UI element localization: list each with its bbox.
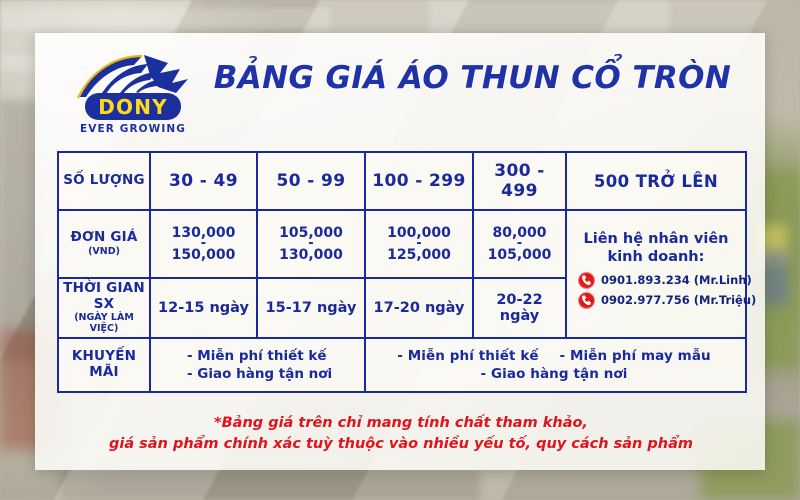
cell-days-4: 20-22 ngày xyxy=(473,278,566,338)
row-label-text: ĐƠN GIÁ xyxy=(70,229,137,245)
bg-decor xyxy=(0,8,330,30)
logo-tagline: EVER GROWING xyxy=(72,123,194,135)
phone-item[interactable]: 0902.977.756 (Mr.Triệu) xyxy=(578,292,738,309)
header: DONY EVER GROWING BẢNG GIÁ ÁO THUN CỔ TR… xyxy=(35,33,765,138)
table-header-row: SỐ LƯỢNG 30 - 49 50 - 99 100 - 299 300 -… xyxy=(58,152,746,210)
cell-days-3: 17-20 ngày xyxy=(365,278,473,338)
page-title: BẢNG GIÁ ÁO THUN CỔ TRÒN xyxy=(200,61,745,95)
promo-right-item-2: - Miễn phí may mẫu xyxy=(559,347,710,365)
disclaimer-line-2: giá sản phẩm chính xác tuỳ thuộc vào nhi… xyxy=(57,434,745,455)
cell-promo-right: - Miễn phí thiết kế - Miễn phí may mẫu -… xyxy=(365,338,746,392)
logo-wordmark: DONY xyxy=(85,93,181,120)
header-cell-range-3: 100 - 299 xyxy=(365,152,473,210)
cell-days-2: 15-17 ngày xyxy=(257,278,365,338)
disclaimer-note: *Bảng giá trên chỉ mang tính chất tham k… xyxy=(57,413,745,455)
contact-heading-line-2: kinh doanh: xyxy=(570,248,742,266)
header-cell-range-2: 50 - 99 xyxy=(257,152,365,210)
promo-right-item-1: - Miễn phí thiết kế xyxy=(397,347,538,365)
row-sublabel-text: (NGÀY LÀM VIỆC) xyxy=(62,313,146,335)
row-label-production-time: THỜI GIAN SX (NGÀY LÀM VIỆC) xyxy=(58,278,150,338)
promo-right-item-3: - Giao hàng tận nơi xyxy=(480,365,627,383)
phone-number-text: 0902.977.756 (Mr.Triệu) xyxy=(601,293,756,307)
phone-number-text: 0901.893.234 (Mr.Linh) xyxy=(601,273,752,287)
header-cell-quantity: SỐ LƯỢNG xyxy=(58,152,150,210)
cell-price-4: 80,000 - 105,000 xyxy=(473,210,566,278)
phone-icon xyxy=(578,272,595,289)
contact-heading-line-1: Liên hệ nhân viên xyxy=(570,230,742,248)
promo-left-line-2: - Giao hàng tận nơi xyxy=(187,365,361,383)
cell-promo-left: - Miễn phí thiết kế - Giao hàng tận nơi xyxy=(150,338,365,392)
cell-days-1: 12-15 ngày xyxy=(150,278,257,338)
table-row-unit-price: ĐƠN GIÁ (VND) 130,000 - 150,000 105,000 … xyxy=(58,210,746,278)
row-label-promotion: KHUYẾN MÃI xyxy=(58,338,150,392)
row-sublabel-text: (VND) xyxy=(62,247,146,258)
bg-decor xyxy=(762,250,788,305)
row-label-unit-price: ĐƠN GIÁ (VND) xyxy=(58,210,150,278)
price-to: 125,000 xyxy=(387,247,451,263)
header-cell-range-1: 30 - 49 xyxy=(150,152,257,210)
cell-sales-contact: Liên hệ nhân viên kinh doanh: 0901.893.2… xyxy=(566,210,746,338)
logo-name-text: DONY xyxy=(98,97,168,117)
price-table-graphic: DONY EVER GROWING BẢNG GIÁ ÁO THUN CỔ TR… xyxy=(0,0,800,500)
phone-icon xyxy=(578,292,595,309)
disclaimer-line-1: *Bảng giá trên chỉ mang tính chất tham k… xyxy=(57,413,745,434)
row-label-text: THỜI GIAN SX xyxy=(63,280,145,312)
cell-price-3: 100,000 - 125,000 xyxy=(365,210,473,278)
cell-price-2: 105,000 - 130,000 xyxy=(257,210,365,278)
header-cell-range-5: 500 TRỞ LÊN xyxy=(566,152,746,210)
bg-decor xyxy=(60,470,480,500)
price-table-wrapper: SỐ LƯỢNG 30 - 49 50 - 99 100 - 299 300 -… xyxy=(57,151,745,393)
bg-decor xyxy=(0,100,40,360)
header-cell-range-4: 300 - 499 xyxy=(473,152,566,210)
promo-left-line-1: - Miễn phí thiết kế xyxy=(187,347,361,365)
price-table: SỐ LƯỢNG 30 - 49 50 - 99 100 - 299 300 -… xyxy=(57,151,747,393)
price-to: 150,000 xyxy=(172,247,236,263)
price-to: 105,000 xyxy=(488,247,552,263)
bg-decor xyxy=(430,0,670,34)
cell-price-1: 130,000 - 150,000 xyxy=(150,210,257,278)
price-to: 130,000 xyxy=(279,247,343,263)
dony-logo: DONY EVER GROWING xyxy=(72,53,192,133)
table-row-promotion: KHUYẾN MÃI - Miễn phí thiết kế - Giao hà… xyxy=(58,338,746,392)
phone-item[interactable]: 0901.893.234 (Mr.Linh) xyxy=(578,272,738,289)
phone-list: 0901.893.234 (Mr.Linh) 0902.977.756 (Mr.… xyxy=(570,267,742,316)
